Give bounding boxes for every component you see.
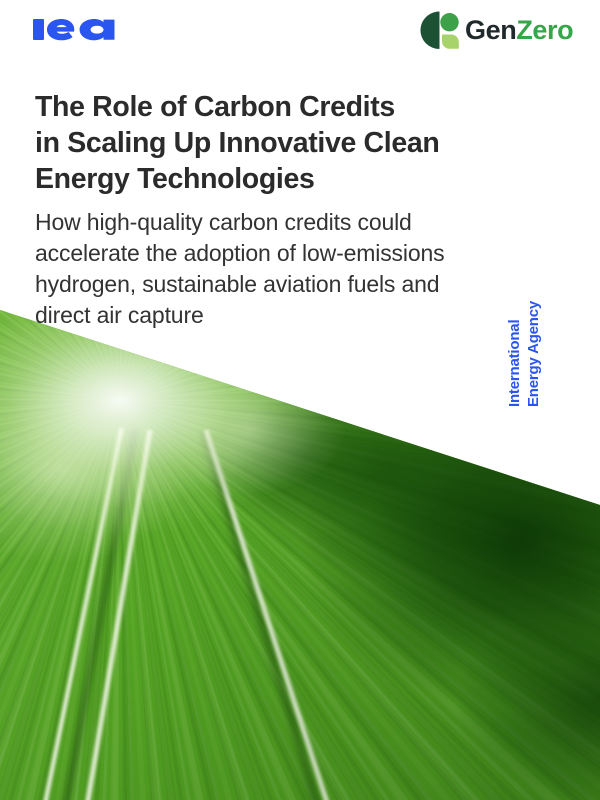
genzero-logo: GenZero: [419, 10, 573, 50]
title-line-2: in Scaling Up Innovative Clean: [35, 125, 535, 161]
genzero-mark-icon: [419, 10, 461, 50]
international-energy-agency-wordmark: International Energy Agency: [505, 277, 565, 407]
subtitle-line-2: accelerate the adoption of low-emissions: [35, 238, 545, 269]
subtitle-line-4: direct air capture: [35, 300, 545, 331]
subtitle-line-1: How high-quality carbon credits could: [35, 207, 545, 238]
genzero-wordmark: GenZero: [465, 17, 573, 44]
genzero-word-gen: Gen: [465, 15, 516, 45]
genzero-word-zero: Zero: [516, 15, 573, 45]
iea-logo: [33, 12, 117, 46]
title-line-3: Energy Technologies: [35, 161, 535, 197]
page-subtitle: How high-quality carbon credits could ac…: [35, 207, 545, 331]
page-title: The Role of Carbon Credits in Scaling Up…: [35, 89, 535, 197]
title-line-1: The Role of Carbon Credits: [35, 89, 535, 125]
subtitle-line-3: hydrogen, sustainable aviation fuels and: [35, 269, 545, 300]
vertical-wordmark-line-1: International: [505, 277, 524, 407]
report-cover: GenZero The Role of Carbon Credits in Sc…: [0, 0, 600, 800]
vertical-wordmark-line-2: Energy Agency: [524, 277, 543, 407]
